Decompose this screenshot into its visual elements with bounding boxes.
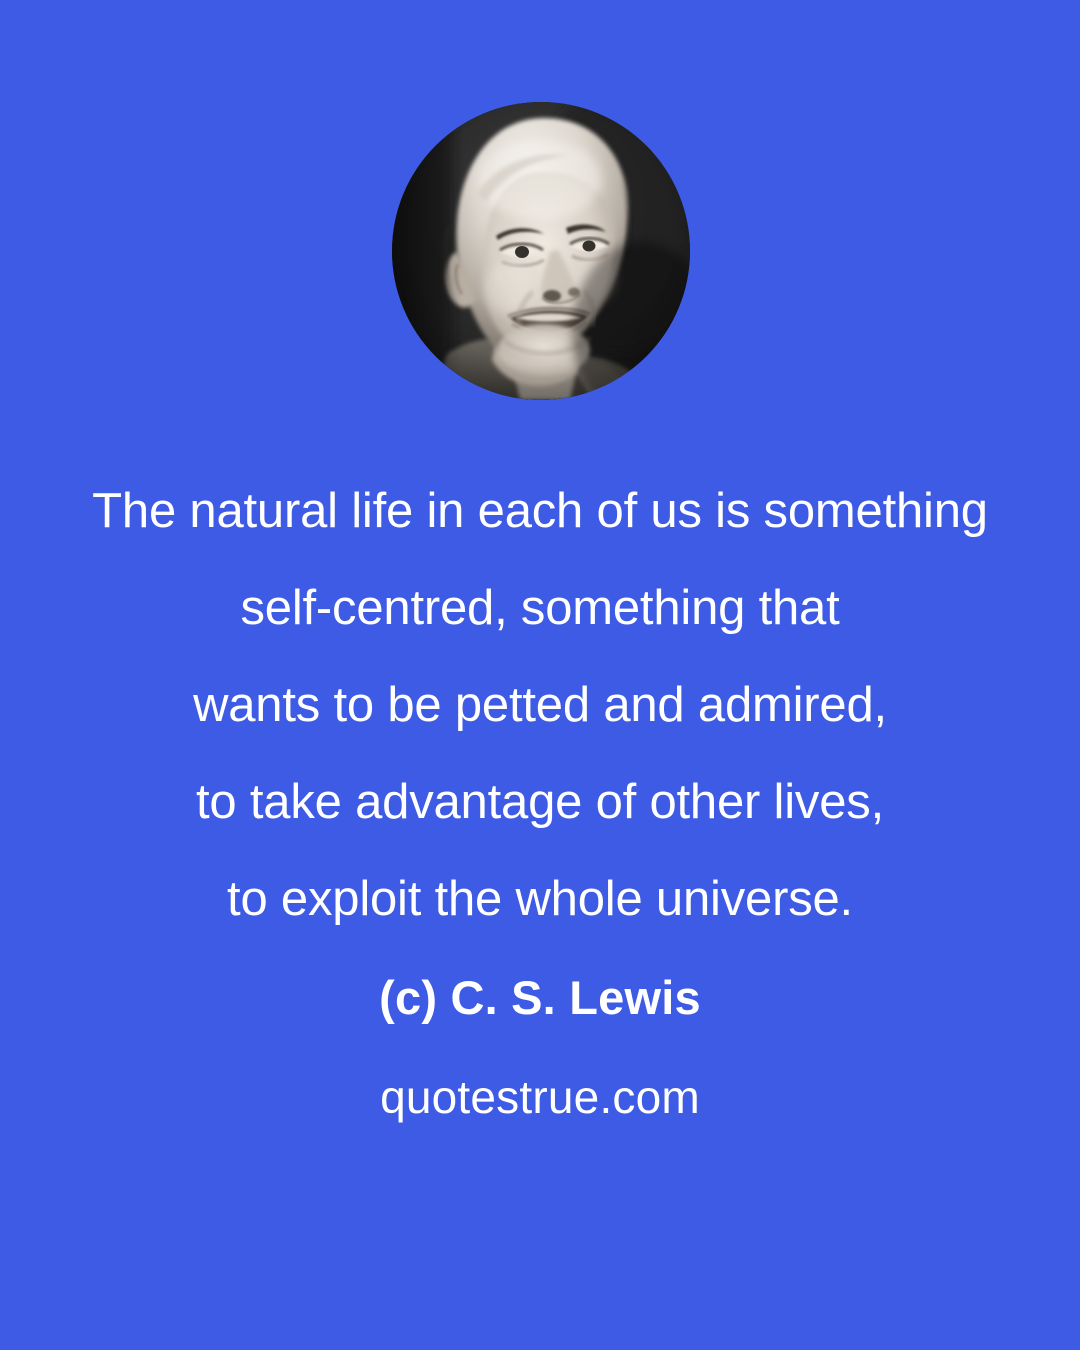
author-portrait-photo — [392, 102, 690, 400]
quote-line: self-centred, something that — [0, 560, 1080, 657]
quote-line: to take advantage of other lives, — [0, 754, 1080, 851]
site-watermark: quotestrue.com — [0, 1062, 1080, 1132]
portrait-image — [392, 102, 690, 400]
quote-card: The natural life in each of us is someth… — [0, 0, 1080, 1350]
quote-line: wants to be petted and admired, — [0, 657, 1080, 754]
quote-attribution: (c) C. S. Lewis — [0, 963, 1080, 1033]
quote-line: to exploit the whole universe. — [0, 851, 1080, 948]
quote-line: The natural life in each of us is someth… — [0, 463, 1080, 560]
quote-text: The natural life in each of us is someth… — [0, 463, 1080, 948]
